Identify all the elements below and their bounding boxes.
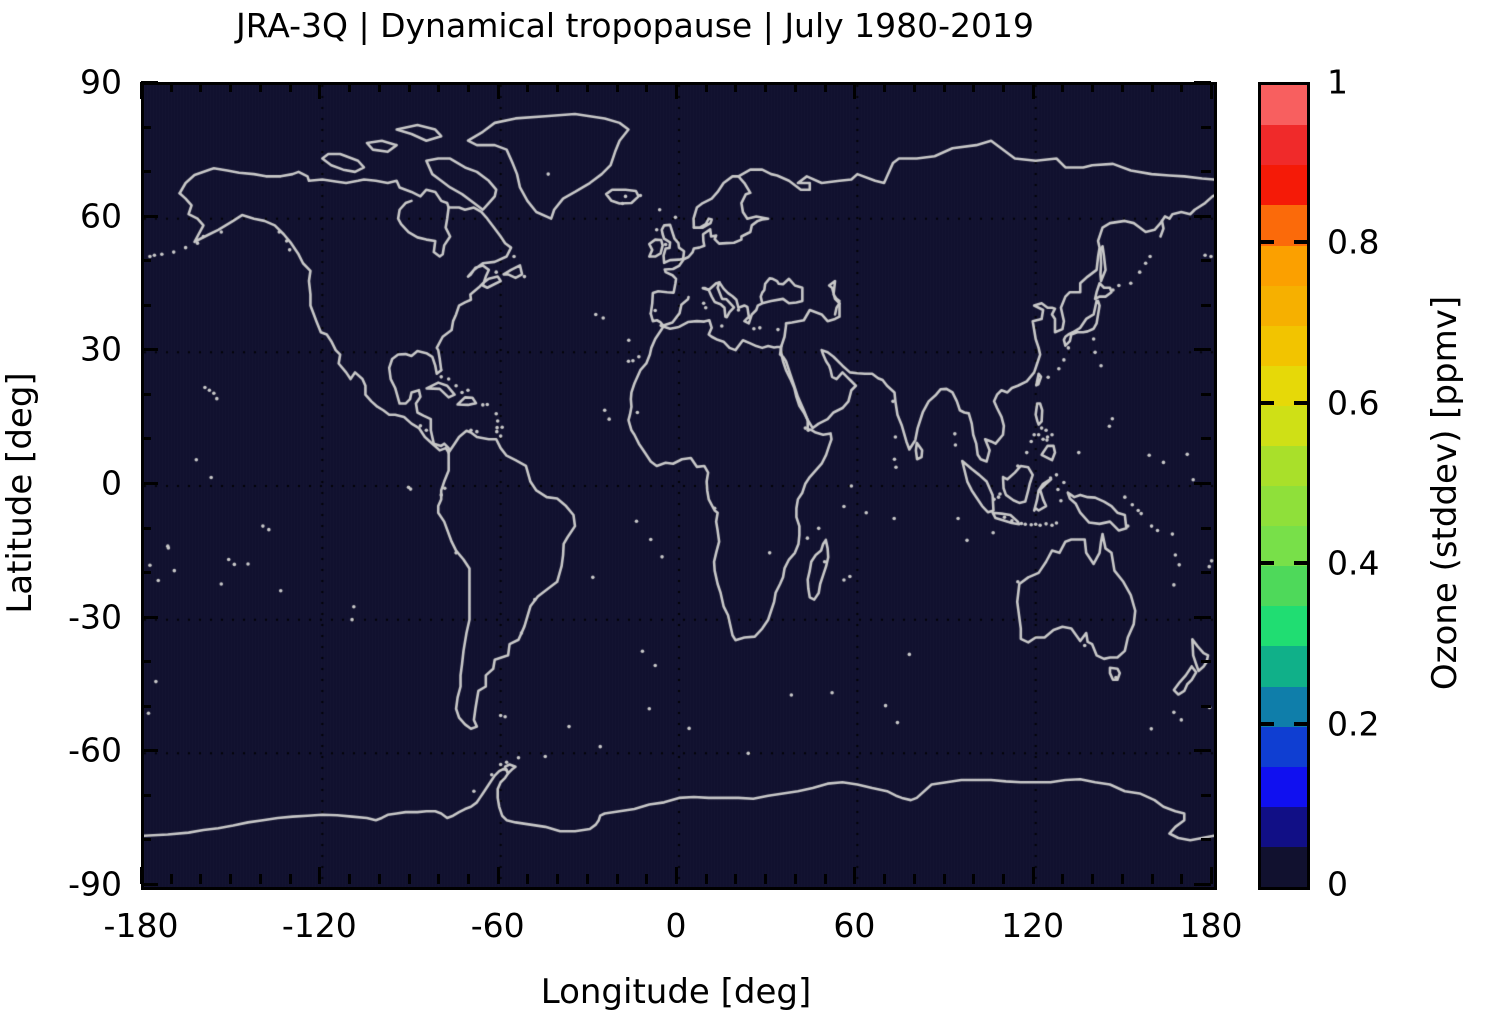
y-axis-minor-tick--70 — [141, 794, 151, 797]
y-axis-minor-tick-10-right — [1201, 437, 1211, 440]
x-axis-minor-tick-110-top — [1002, 82, 1005, 92]
y-axis-minor-tick--70-right — [1201, 794, 1211, 797]
y-axis-major-tick-0 — [141, 482, 158, 485]
x-tick-label--120: -120 — [282, 906, 357, 945]
x-axis-minor-tick--160 — [199, 874, 202, 884]
x-tick-label-60: 60 — [833, 906, 875, 945]
x-axis-minor-tick-110 — [1002, 874, 1005, 884]
x-axis-minor-tick-80-top — [913, 82, 916, 92]
y-axis-major-tick--30-right — [1194, 616, 1211, 619]
colorbar-band-9 — [1261, 486, 1307, 526]
x-axis-major-tick-120-top — [1032, 82, 1035, 99]
y-axis-major-tick-30-right — [1194, 348, 1211, 351]
x-axis-major-tick--120-top — [318, 82, 321, 99]
y-axis-major-tick-30 — [141, 348, 158, 351]
colorbar-tick-labels: 00.20.40.60.81 — [1327, 82, 1437, 884]
x-axis-minor-tick--80 — [437, 874, 440, 884]
colorbar-band-10 — [1261, 446, 1307, 486]
y-tick-label--60: -60 — [68, 731, 122, 770]
x-axis-minor-tick-130-top — [1061, 82, 1064, 92]
y-axis-minor-tick-70-right — [1201, 170, 1211, 173]
x-axis-minor-tick--50 — [526, 874, 529, 884]
x-axis-minor-tick--170-top — [170, 82, 173, 92]
y-axis-minor-tick-10 — [141, 437, 151, 440]
colorbar-band-3 — [1261, 727, 1307, 767]
colorbar-label-1: 1 — [1327, 63, 1348, 102]
x-axis-minor-tick--50-top — [526, 82, 529, 92]
x-axis-minor-tick-90 — [943, 874, 946, 884]
x-axis-major-tick-60 — [853, 867, 856, 884]
x-axis-minor-tick-50-top — [824, 82, 827, 92]
y-axis-major-tick--90 — [141, 883, 158, 886]
y-axis-major-tick-60-right — [1194, 215, 1211, 218]
colorbar-band-2 — [1261, 767, 1307, 807]
y-tick-label-90: 90 — [80, 63, 122, 102]
x-tick-label-120: 120 — [1001, 906, 1064, 945]
colorbar-bands — [1261, 85, 1307, 887]
y-axis-minor-tick-80-right — [1201, 126, 1211, 129]
colorbar-band-13 — [1261, 326, 1307, 366]
y-tick-label-30: 30 — [80, 330, 122, 369]
x-axis-major-tick-180 — [1210, 867, 1213, 884]
x-tick-label--180: -180 — [104, 906, 179, 945]
colorbar-band-12 — [1261, 366, 1307, 406]
x-axis-minor-tick--90-top — [408, 82, 411, 92]
x-axis-minor-tick-70 — [883, 874, 886, 884]
x-axis-major-tick-60-top — [853, 82, 856, 99]
x-axis-minor-tick--170 — [170, 874, 173, 884]
y-axis-minor-tick--50-right — [1201, 705, 1211, 708]
colorbar-band-5 — [1261, 646, 1307, 686]
colorbar-band-14 — [1261, 286, 1307, 326]
x-axis-minor-tick--40 — [556, 874, 559, 884]
x-axis-minor-tick-140 — [1091, 874, 1094, 884]
x-tick-label-0: 0 — [666, 906, 687, 945]
x-axis-minor-tick--140-top — [259, 82, 262, 92]
colorbar-band-16 — [1261, 205, 1307, 245]
colorbar-band-17 — [1261, 165, 1307, 205]
y-axis-minor-tick-50-right — [1201, 259, 1211, 262]
colorbar-label-0.4: 0.4 — [1327, 544, 1379, 583]
colorbar-band-6 — [1261, 606, 1307, 646]
colorbar-band-0 — [1261, 847, 1307, 887]
x-axis-minor-tick--130-top — [289, 82, 292, 92]
y-axis-major-tick--60 — [141, 749, 158, 752]
y-axis-major-tick-90-right — [1194, 81, 1211, 84]
colorbar-band-11 — [1261, 406, 1307, 446]
x-axis-minor-tick--110-top — [348, 82, 351, 92]
x-axis-minor-tick--150-top — [229, 82, 232, 92]
y-axis-minor-tick-40 — [141, 304, 151, 307]
x-axis-major-tick--120 — [318, 867, 321, 884]
x-axis-title: Longitude [deg] — [141, 972, 1211, 1012]
y-axis-minor-tick-50 — [141, 259, 151, 262]
x-axis-major-tick-180-top — [1210, 82, 1213, 99]
x-axis-minor-tick--100-top — [378, 82, 381, 92]
y-axis-major-tick-0-right — [1194, 482, 1211, 485]
x-axis-major-tick--60-top — [497, 82, 500, 99]
y-axis-minor-tick--10 — [141, 527, 151, 530]
y-axis-minor-tick--20 — [141, 571, 151, 574]
y-tick-label-0: 0 — [101, 464, 122, 503]
x-axis-minor-tick-50 — [824, 874, 827, 884]
y-axis-minor-tick--40 — [141, 660, 151, 663]
colorbar-band-8 — [1261, 526, 1307, 566]
x-tick-label--60: -60 — [471, 906, 525, 945]
y-axis-minor-tick--40-right — [1201, 660, 1211, 663]
x-axis-minor-tick--110 — [348, 874, 351, 884]
heatmap-canvas — [144, 85, 1214, 887]
x-axis-minor-tick-130 — [1061, 874, 1064, 884]
x-axis-major-tick--180-top — [140, 82, 143, 99]
y-tick-label-60: 60 — [80, 196, 122, 235]
x-axis-minor-tick-40-top — [794, 82, 797, 92]
x-axis-minor-tick-170-top — [1180, 82, 1183, 92]
x-axis-minor-tick-150 — [1121, 874, 1124, 884]
x-axis-minor-tick--140 — [259, 874, 262, 884]
x-axis-minor-tick-20-top — [734, 82, 737, 92]
x-axis-major-tick--180 — [140, 867, 143, 884]
colorbar-label-0.8: 0.8 — [1327, 223, 1379, 262]
x-axis-minor-tick--80-top — [437, 82, 440, 92]
y-axis-minor-tick-70 — [141, 170, 151, 173]
y-axis-minor-tick--20-right — [1201, 571, 1211, 574]
y-tick-label--30: -30 — [68, 597, 122, 636]
x-axis-minor-tick-170 — [1180, 874, 1183, 884]
x-axis-minor-tick-10 — [705, 874, 708, 884]
x-axis-minor-tick-30 — [764, 874, 767, 884]
y-axis-major-tick-60 — [141, 215, 158, 218]
colorbar-label-0: 0 — [1327, 865, 1348, 904]
x-axis-minor-tick-100-top — [972, 82, 975, 92]
x-axis-minor-tick--10 — [645, 874, 648, 884]
x-axis-minor-tick-80 — [913, 874, 916, 884]
colorbar-band-4 — [1261, 687, 1307, 727]
x-axis-minor-tick-160-top — [1151, 82, 1154, 92]
y-tick-label--90: -90 — [68, 865, 122, 904]
x-tick-label-180: 180 — [1180, 906, 1243, 945]
y-axis-minor-tick-20 — [141, 393, 151, 396]
x-axis-major-tick-0-top — [675, 82, 678, 99]
colorbar-band-7 — [1261, 566, 1307, 606]
x-axis-minor-tick-90-top — [943, 82, 946, 92]
colorbar-band-1 — [1261, 807, 1307, 847]
y-axis-minor-tick-40-right — [1201, 304, 1211, 307]
x-axis-minor-tick--90 — [408, 874, 411, 884]
x-axis-minor-tick-30-top — [764, 82, 767, 92]
colorbar-band-15 — [1261, 246, 1307, 286]
colorbar[interactable] — [1258, 82, 1310, 890]
y-axis-major-tick--60-right — [1194, 749, 1211, 752]
map-plot-area[interactable] — [141, 82, 1217, 890]
x-axis-major-tick-120 — [1032, 867, 1035, 884]
x-axis-minor-tick-150-top — [1121, 82, 1124, 92]
x-axis-major-tick--60 — [497, 867, 500, 884]
colorbar-label-0.6: 0.6 — [1327, 383, 1379, 422]
y-axis-minor-tick-80 — [141, 126, 151, 129]
y-axis-minor-tick-20-right — [1201, 393, 1211, 396]
y-axis-major-tick-90 — [141, 81, 158, 84]
x-axis-minor-tick-20 — [734, 874, 737, 884]
x-axis-minor-tick--100 — [378, 874, 381, 884]
x-axis-minor-tick--150 — [229, 874, 232, 884]
x-axis-minor-tick-100 — [972, 874, 975, 884]
y-axis-major-tick--90-right — [1194, 883, 1211, 886]
x-axis-minor-tick--10-top — [645, 82, 648, 92]
colorbar-band-19 — [1261, 85, 1307, 125]
x-axis-tick-labels: -180-120-60060120180 — [0, 906, 1495, 950]
y-axis-major-tick--30 — [141, 616, 158, 619]
x-axis-minor-tick--20 — [616, 874, 619, 884]
y-axis-minor-tick--80-right — [1201, 838, 1211, 841]
x-axis-minor-tick-40 — [794, 874, 797, 884]
x-axis-minor-tick--70 — [467, 874, 470, 884]
x-axis-minor-tick-70-top — [883, 82, 886, 92]
page-title: JRA-3Q | Dynamical tropopause | July 198… — [0, 6, 1270, 45]
colorbar-band-18 — [1261, 125, 1307, 165]
y-axis-minor-tick--10-right — [1201, 527, 1211, 530]
x-axis-minor-tick--20-top — [616, 82, 619, 92]
x-axis-minor-tick--160-top — [199, 82, 202, 92]
x-axis-minor-tick-10-top — [705, 82, 708, 92]
x-axis-minor-tick--30-top — [586, 82, 589, 92]
colorbar-label-0.2: 0.2 — [1327, 704, 1379, 743]
x-axis-minor-tick-160 — [1151, 874, 1154, 884]
x-axis-minor-tick--30 — [586, 874, 589, 884]
x-axis-minor-tick--130 — [289, 874, 292, 884]
x-axis-major-tick-0 — [675, 867, 678, 884]
x-axis-minor-tick-140-top — [1091, 82, 1094, 92]
y-axis-minor-tick--80 — [141, 838, 151, 841]
colorbar-title: Ozone (stddev) [ppmv] — [1425, 92, 1465, 894]
x-axis-minor-tick--70-top — [467, 82, 470, 92]
x-axis-minor-tick--40-top — [556, 82, 559, 92]
y-axis-title: Latitude [deg] — [0, 92, 40, 894]
y-axis-minor-tick--50 — [141, 705, 151, 708]
